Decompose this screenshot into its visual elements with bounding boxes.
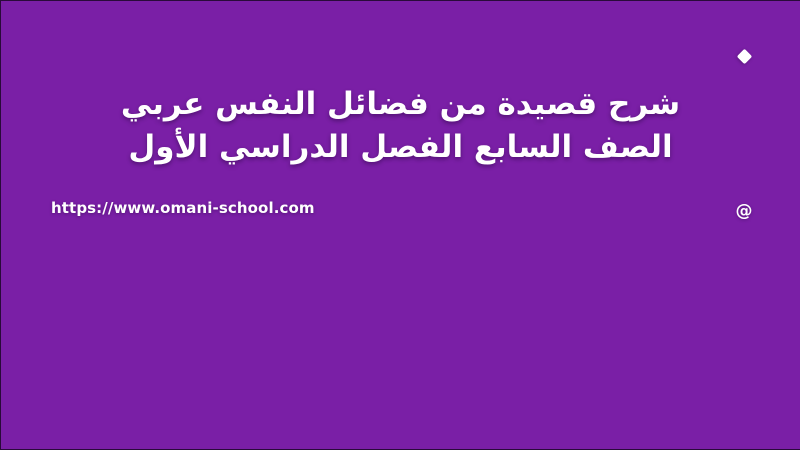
at-sign-icon: @ bbox=[733, 200, 755, 222]
title-line-1: شرح قصيدة من فضائل النفس عربي bbox=[61, 83, 740, 126]
thumbnail-slide: شرح قصيدة من فضائل النفس عربي الصف الساب… bbox=[0, 0, 800, 450]
website-url[interactable]: https://www.omani-school.com bbox=[51, 199, 315, 217]
title-block: شرح قصيدة من فضائل النفس عربي الصف الساب… bbox=[1, 83, 800, 169]
diamond-icon bbox=[737, 49, 753, 65]
title-line-2: الصف السابع الفصل الدراسي الأول bbox=[61, 126, 740, 169]
